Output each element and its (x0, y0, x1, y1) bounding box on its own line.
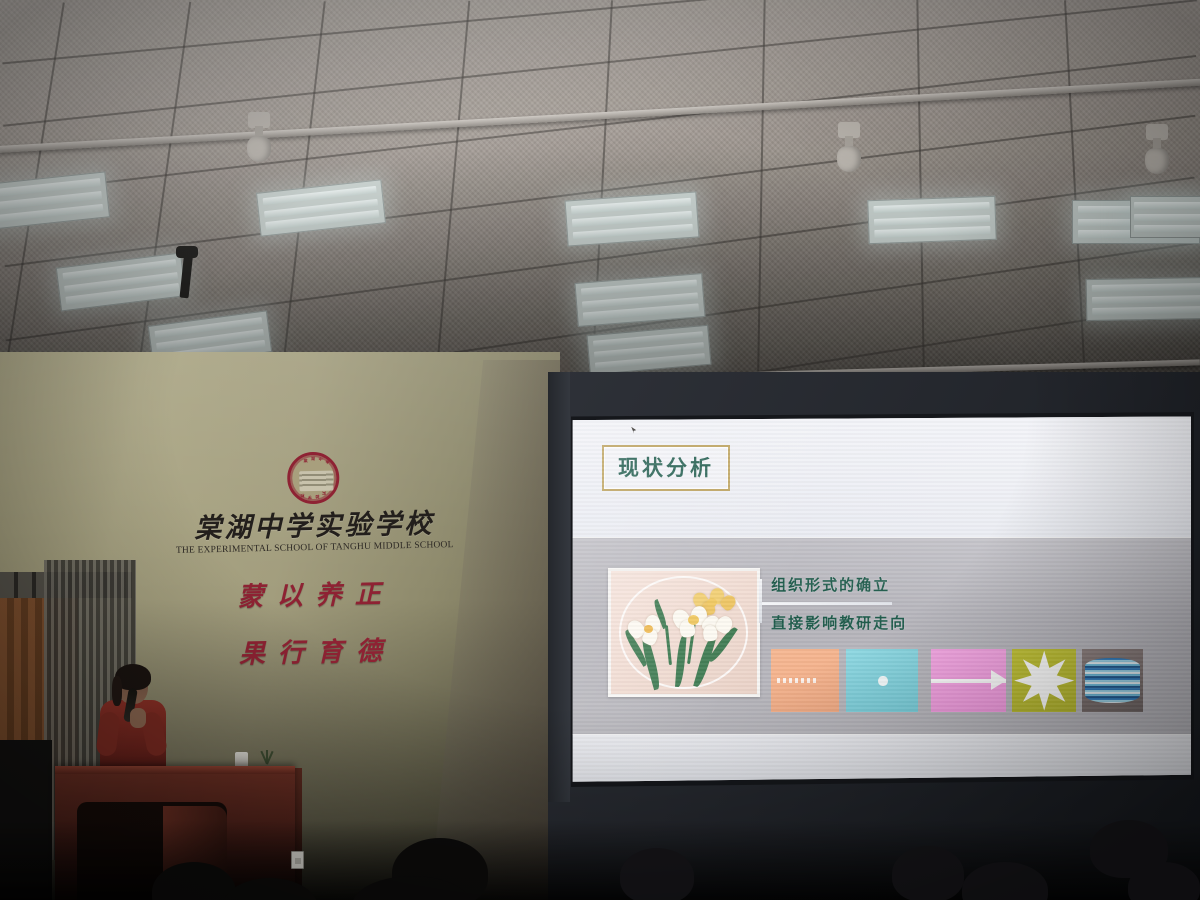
school-wall-sign: 棠 湖 中 学 实 验 学 校 棠湖中学实验学校 THE EXPERIMENTA… (148, 449, 482, 673)
tile-pink-arrow (931, 649, 1006, 712)
school-crest-icon: 棠 湖 中 学 实 验 学 校 (287, 451, 340, 504)
presenter-hand (130, 708, 146, 728)
school-motto-line-1: 蒙以养正 (150, 571, 481, 615)
slide-accent-bar-horizontal (762, 602, 893, 605)
projection-screen-frame: 现状分析 (566, 412, 1194, 787)
slide-accent-bar-vertical (759, 579, 762, 623)
slide-title-box: 现状分析 (602, 445, 730, 491)
slide-body-line-1: 组织形式的确立 (771, 574, 890, 595)
crest-ring-text: 棠 湖 中 学 实 验 学 校 (290, 455, 337, 502)
slide-image-card (608, 568, 760, 697)
tile-blue-coil (1082, 649, 1144, 712)
slide-body-line-2: 直接影响教研走向 (771, 612, 907, 633)
wall-light-switch[interactable] (291, 851, 304, 869)
plant-sprig (258, 748, 276, 766)
lecture-hall-photo: 棠 湖 中 学 实 验 学 校 棠湖中学实验学校 THE EXPERIMENTA… (0, 0, 1200, 900)
slide-title: 现状分析 (618, 456, 714, 480)
audience-head (892, 846, 964, 900)
slide-tile-strip (771, 649, 1157, 712)
school-motto-line-2: 果行育德 (152, 628, 483, 672)
wall-corner-post (548, 372, 570, 802)
presenter (96, 668, 174, 778)
slide-band-bottom (569, 734, 1191, 784)
audience-head (620, 848, 694, 900)
tile-peach-text (771, 649, 838, 712)
tile-cyan-dot (846, 649, 917, 712)
tile-olive-star (1012, 649, 1076, 712)
eight-point-star-icon (1012, 649, 1076, 712)
presenter-hair-side (112, 676, 122, 706)
projected-slide[interactable]: 现状分析 (569, 415, 1191, 784)
narcissus-illustration (611, 571, 757, 694)
